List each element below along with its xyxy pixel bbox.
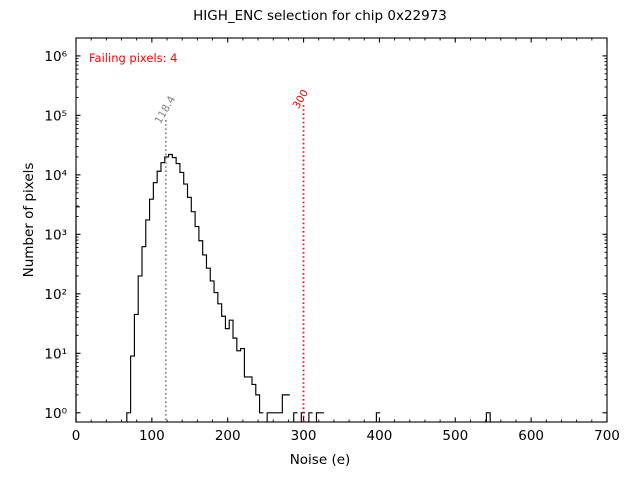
x-tick-label: 200 — [215, 428, 241, 444]
figure-canvas: HIGH_ENC selection for chip 0x22973 Numb… — [0, 0, 640, 480]
x-tick-label: 400 — [367, 428, 393, 444]
y-tick-label: 10³ — [44, 227, 67, 243]
y-tick-label: 10⁴ — [44, 168, 67, 184]
x-tick-label: 700 — [594, 428, 620, 444]
histogram-step-line — [76, 155, 490, 423]
y-tick-label: 10⁵ — [44, 108, 67, 124]
plot-area: 010020030040050060070010⁰10¹10²10³10⁴10⁵… — [0, 0, 640, 480]
x-tick-label: 100 — [139, 428, 165, 444]
axes-frame — [76, 38, 607, 422]
x-tick-label: 600 — [518, 428, 544, 444]
x-tick-label: 500 — [442, 428, 468, 444]
y-tick-label: 10⁰ — [44, 406, 67, 422]
x-tick-label: 0 — [72, 428, 81, 444]
x-tick-label: 300 — [291, 428, 317, 444]
failing-pixels-annotation: Failing pixels: 4 — [89, 51, 178, 65]
y-tick-label: 10² — [44, 287, 67, 303]
y-tick-label: 10⁶ — [44, 49, 67, 65]
y-tick-label: 10¹ — [44, 346, 67, 362]
